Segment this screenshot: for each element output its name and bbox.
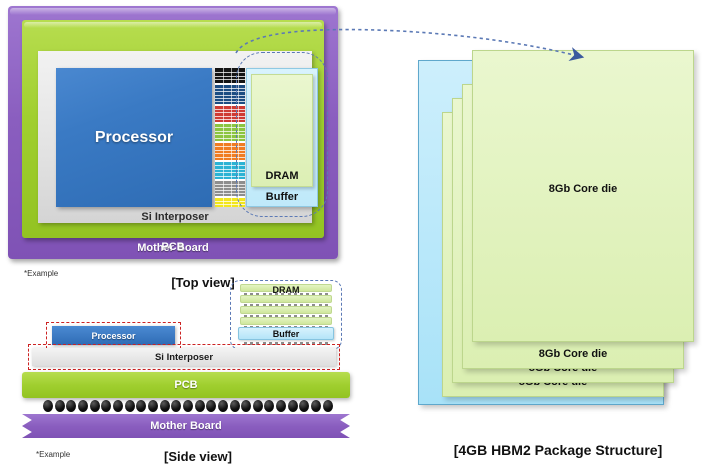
side-view-buffer-die: Buffer: [238, 327, 334, 340]
solder-ball: [323, 400, 333, 412]
solder-ball: [241, 400, 251, 412]
solder-ball: [299, 400, 309, 412]
solder-ball: [311, 400, 321, 412]
top-view-processor-label: Processor: [95, 129, 173, 147]
solder-ball: [136, 400, 146, 412]
solder-ball: [218, 400, 228, 412]
solder-ball: [101, 400, 111, 412]
side-view-si-interposer: Si Interposer: [32, 348, 336, 366]
side-view-dram-layer: [240, 295, 332, 303]
side-view-caption: [Side view]: [138, 447, 258, 465]
package-core-die: 8Gb Core die: [472, 50, 694, 342]
package-structure-group: Buffer die 8Gb Core die8Gb Core die8Gb C…: [418, 50, 698, 470]
side-view-processor-die: Processor: [52, 326, 175, 345]
solder-ball: [43, 400, 53, 412]
solder-ball: [288, 400, 298, 412]
side-view-dram-layer: [240, 306, 332, 314]
solder-ball: [160, 400, 170, 412]
solder-ball: [206, 400, 216, 412]
side-view-pcb: PCB: [22, 372, 350, 398]
solder-ball: [195, 400, 205, 412]
diagram-canvas: Mother Board PCB Si Interposer Processor…: [0, 0, 706, 472]
side-view-buffer-label: Buffer: [273, 329, 300, 339]
solder-ball: [78, 400, 88, 412]
side-view-footnote: *Example: [36, 450, 70, 459]
solder-ball: [253, 400, 263, 412]
side-view-mother-board: Mother Board: [22, 414, 350, 438]
solder-ball: [171, 400, 181, 412]
side-view-group: DRAM Buffer Processor Si Interposer PCB …: [8, 282, 348, 467]
solder-ball: [276, 400, 286, 412]
side-view-mother-board-label: Mother Board: [150, 420, 222, 432]
side-view-si-interposer-label: Si Interposer: [155, 352, 213, 363]
solder-ball: [125, 400, 135, 412]
side-view-pcb-label: PCB: [174, 379, 197, 391]
mother-board-highlight: [10, 8, 336, 15]
bus-vertical-line: [231, 68, 232, 207]
pcb-highlight: [24, 22, 322, 28]
package-core-die-label: 8Gb Core die: [473, 183, 693, 195]
solder-ball: [66, 400, 76, 412]
solder-ball: [148, 400, 158, 412]
solder-ball: [90, 400, 100, 412]
bus-vertical-line: [223, 68, 224, 207]
hbm-callout-dashed-region: [236, 52, 328, 217]
side-view-dram-label: DRAM: [240, 285, 332, 295]
package-core-die-label: 8Gb Core die: [463, 348, 683, 360]
top-view-footnote: *Example: [24, 269, 58, 278]
solder-ball: [264, 400, 274, 412]
top-view-processor-die: Processor: [56, 68, 212, 207]
solder-ball: [183, 400, 193, 412]
side-view-processor-label: Processor: [91, 331, 135, 341]
solder-ball: [113, 400, 123, 412]
solder-ball: [55, 400, 65, 412]
side-view-solder-ball-row: [43, 398, 333, 414]
package-structure-caption: [4GB HBM2 Package Structure]: [418, 440, 698, 460]
top-view-group: Mother Board PCB Si Interposer Processor…: [8, 6, 338, 259]
side-view-dram-layer: [240, 317, 332, 325]
solder-ball: [230, 400, 240, 412]
top-view-pcb-label: PCB: [22, 240, 324, 253]
